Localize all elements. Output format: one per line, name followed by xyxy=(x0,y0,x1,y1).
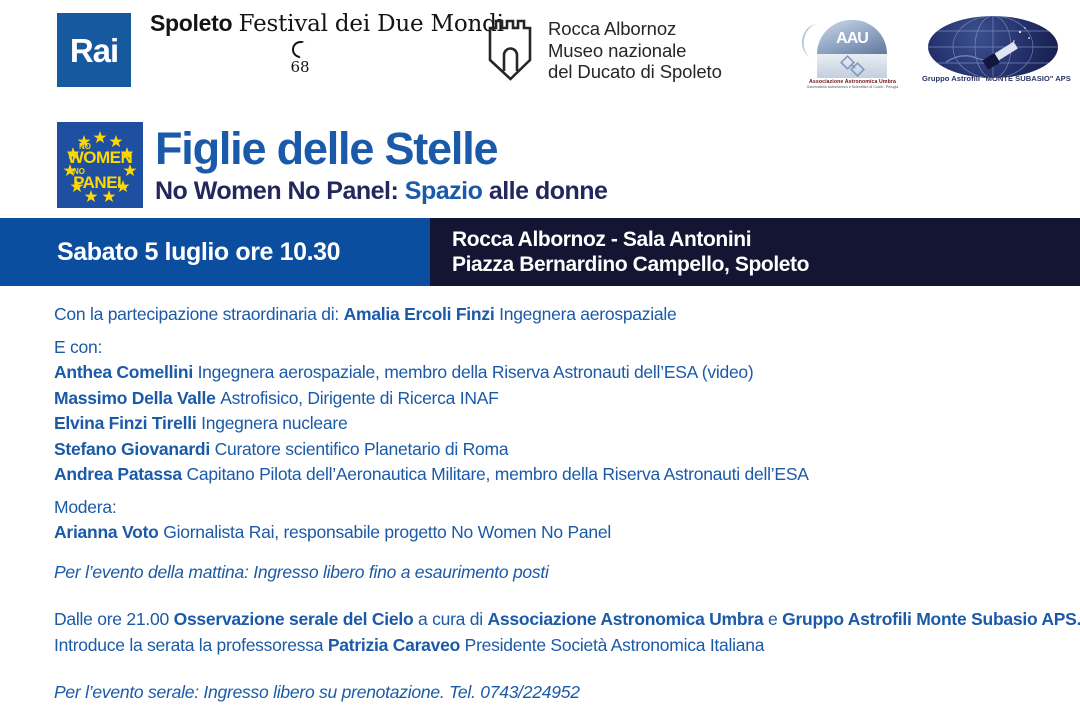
evening-intro-line: Introduce la serata la professoressa Pat… xyxy=(54,633,1080,659)
venue-address: Piazza Bernardino Campello, Spoleto xyxy=(452,252,1080,277)
speaker-row: Stefano Giovanardi Curatore scientifico … xyxy=(54,437,1080,463)
evening-activity: Osservazione serale del Cielo xyxy=(174,609,414,629)
speaker-row: Anthea Comellini Ingegnera aerospaziale,… xyxy=(54,360,1080,386)
rocca-line-3: del Ducato di Spoleto xyxy=(548,61,722,83)
speaker-role: Astrofisico, Dirigente di Ricerca INAF xyxy=(220,388,498,408)
evening-intro-label: Introduce la serata la professoressa xyxy=(54,635,323,655)
nwnp-word-panel: PANEL xyxy=(57,174,143,191)
speaker-role: Ingegnera nucleare xyxy=(201,413,347,433)
rai-logo: Rai xyxy=(57,13,131,87)
spoleto-festival-title: Spoleto Festival dei Due Mondi xyxy=(150,10,450,37)
festival-due-mondi-word: Festival dei Due Mondi xyxy=(239,11,504,37)
evening-intro-role: Presidente Società Astronomica Italiana xyxy=(465,635,765,655)
spacer xyxy=(54,488,1080,495)
evening-admission-note: Per l’evento serale: Ingresso libero su … xyxy=(54,680,1080,706)
event-poster: Rai Spoleto Festival dei Due Mondi 68 Ro… xyxy=(0,0,1080,675)
speaker-row: Andrea Patassa Capitano Pilota dell’Aero… xyxy=(54,462,1080,488)
spoleto-word: Spoleto xyxy=(150,10,232,36)
speaker-name: Elvina Finzi Tirelli xyxy=(54,413,197,433)
rai-logo-text: Rai xyxy=(70,34,118,67)
morning-admission-note: Per l’evento della mattina: Ingresso lib… xyxy=(54,560,1080,586)
evening-organizer-1: Associazione Astronomica Umbra xyxy=(488,609,764,629)
moderator-role: Giornalista Rai, responsabile progetto N… xyxy=(163,522,611,542)
moderator-label: Modera: xyxy=(54,495,1080,521)
evening-curated-by: a cura di xyxy=(418,609,483,629)
aau-subtitle: Osservatorio Astronomico e Scientifico d… xyxy=(800,85,905,89)
speaker-role: Curatore scientifico Planetario di Roma xyxy=(215,439,509,459)
spacer xyxy=(54,546,1080,560)
spoleto-festival-logo: Spoleto Festival dei Due Mondi 68 xyxy=(150,10,450,75)
speaker-row: Massimo Della Valle Astrofisico, Dirigen… xyxy=(54,386,1080,412)
speaker-role: Ingegnera aerospaziale, membro della Ris… xyxy=(198,362,754,382)
speaker-name: Stefano Giovanardi xyxy=(54,439,210,459)
banner-date-section: Sabato 5 luglio ore 10.30 xyxy=(0,218,430,286)
event-banner: Sabato 5 luglio ore 10.30 Rocca Albornoz… xyxy=(0,218,1080,286)
speaker-name: Massimo Della Valle xyxy=(54,388,216,408)
moderator-name: Arianna Voto xyxy=(54,522,159,542)
speaker-name: Anthea Comellini xyxy=(54,362,193,382)
special-guest-role: Ingegnera aerospaziale xyxy=(499,304,676,324)
event-title-group: Figlie delle Stelle No Women No Panel: S… xyxy=(155,124,607,206)
evening-intro-name: Patrizia Caraveo xyxy=(328,635,460,655)
rocca-line-1: Rocca Albornoz xyxy=(548,18,722,40)
rocca-albornoz-logo: Rocca Albornoz Museo nazionale del Ducat… xyxy=(487,18,722,83)
speaker-role: Capitano Pilota dell’Aeronautica Militar… xyxy=(186,464,808,484)
with-label: E con: xyxy=(54,335,1080,361)
subtitle-part-spazio: Spazio xyxy=(405,177,483,205)
spacer xyxy=(54,658,1080,680)
title-block: NO WOMEN NO PANEL Figlie delle Stelle No… xyxy=(0,110,1080,218)
speaker-name: Andrea Patassa xyxy=(54,464,182,484)
special-guest-name: Amalia Ercoli Finzi xyxy=(344,304,495,324)
spacer xyxy=(54,585,1080,607)
rocca-albornoz-text: Rocca Albornoz Museo nazionale del Ducat… xyxy=(548,18,722,83)
nwnp-word-women: WOMEN xyxy=(57,149,143,166)
moderator-row: Arianna Voto Giornalista Rai, responsabi… xyxy=(54,520,1080,546)
evening-observation-line: Dalle ore 21.00 Osservazione serale del … xyxy=(54,607,1080,633)
event-details: Con la partecipazione straordinaria di: … xyxy=(0,286,1080,706)
event-subtitle: No Women No Panel: Spazio alle donne xyxy=(155,176,607,206)
venue-name: Rocca Albornoz - Sala Antonini xyxy=(452,227,1080,252)
evening-time: Dalle ore 21.00 xyxy=(54,609,169,629)
no-women-no-panel-logo: NO WOMEN NO PANEL xyxy=(57,122,143,208)
rocca-line-2: Museo nazionale xyxy=(548,40,722,62)
special-guest-line: Con la partecipazione straordinaria di: … xyxy=(54,302,1080,328)
castle-tower-icon xyxy=(487,18,534,82)
speaker-row: Elvina Finzi Tirelli Ingegnera nucleare xyxy=(54,411,1080,437)
gruppo-astrofili-monte-subasio-logo: Gruppo Astrofili "MONTE SUBASIO" APS xyxy=(922,12,1064,94)
globe-icon xyxy=(928,16,1058,78)
astrofili-caption: Gruppo Astrofili "MONTE SUBASIO" APS xyxy=(922,74,1064,83)
page-title: Figlie delle Stelle xyxy=(155,124,607,174)
event-datetime: Sabato 5 luglio ore 10.30 xyxy=(57,238,340,267)
telescope-icon xyxy=(982,42,1017,70)
festival-edition-number: 68 xyxy=(290,60,309,75)
banner-venue-section: Rocca Albornoz - Sala Antonini Piazza Be… xyxy=(430,218,1080,286)
aau-link-icon xyxy=(817,54,887,78)
special-guest-label: Con la partecipazione straordinaria di: xyxy=(54,304,339,324)
crescent-moon-icon xyxy=(292,41,309,58)
associazione-astronomica-umbra-logo: AAU Associazione Astronomica Umbra Osser… xyxy=(800,18,905,90)
spacer xyxy=(54,328,1080,335)
subtitle-part-alle-donne: alle donne xyxy=(489,177,608,205)
globe-graticule xyxy=(928,16,1058,78)
evening-organizer-2: Gruppo Astrofili Monte Subasio APS. xyxy=(782,609,1080,629)
festival-edition-mark: 68 xyxy=(150,41,450,75)
subtitle-part-nwnp: No Women No Panel: xyxy=(155,177,398,205)
sponsor-logo-row: Rai Spoleto Festival dei Due Mondi 68 Ro… xyxy=(0,0,1080,110)
